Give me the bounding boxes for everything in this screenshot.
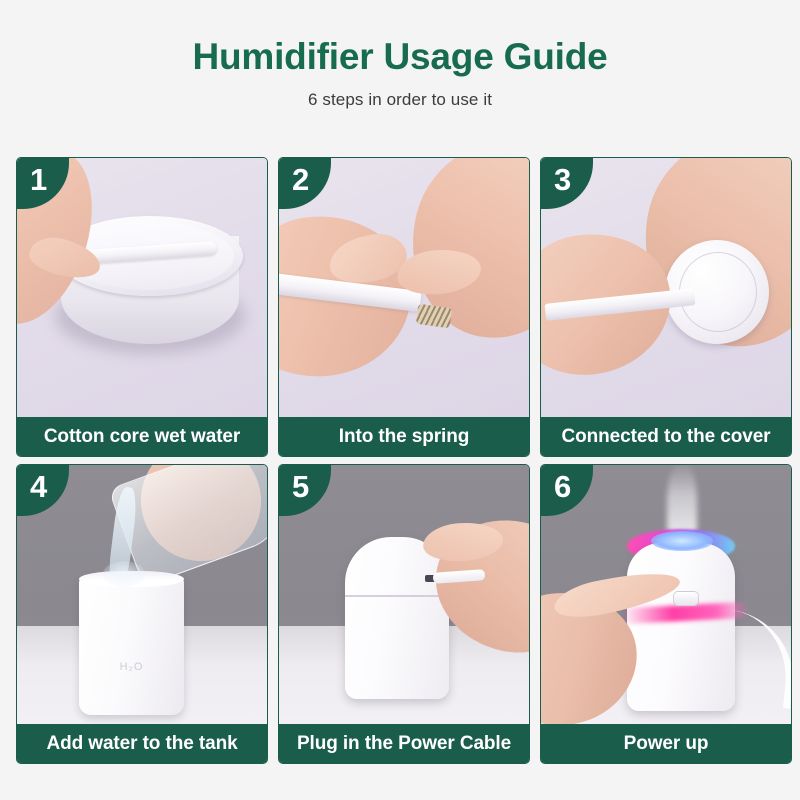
step-caption-2: Into the spring [279, 417, 529, 456]
step-caption-5: Plug in the Power Cable [279, 724, 529, 763]
step-card-2[interactable]: 2 Into the spring [278, 157, 530, 457]
step-1-scene [17, 158, 267, 417]
infographic-page: Humidifier Usage Guide 6 steps in order … [0, 0, 800, 800]
power-button[interactable] [673, 591, 699, 606]
page-title: Humidifier Usage Guide [0, 38, 800, 77]
mist-plume [667, 465, 697, 539]
water-tank [79, 575, 184, 715]
step-card-1[interactable]: 1 Cotton core wet water [16, 157, 268, 457]
unit-seam [345, 595, 449, 597]
step-4-scene: H₂O [17, 465, 267, 724]
step-5-scene [279, 465, 529, 724]
steps-grid: 1 Cotton core wet water 2 Into the sprin… [16, 157, 792, 764]
led-core [651, 531, 713, 551]
step-card-6[interactable]: 6 Power up [540, 464, 792, 764]
tank-h2o-label: H₂O [79, 661, 184, 673]
humidifier-unit [345, 537, 449, 699]
page-subtitle: 6 steps in order to use it [0, 90, 800, 110]
step-caption-1: Cotton core wet water [17, 417, 267, 456]
step-caption-6: Power up [541, 724, 791, 763]
step-2-scene [279, 158, 529, 417]
step-card-4[interactable]: H₂O 4 Add water to the tank [16, 464, 268, 764]
step-card-3[interactable]: 3 Connected to the cover [540, 157, 792, 457]
step-6-scene [541, 465, 791, 724]
step-caption-3: Connected to the cover [541, 417, 791, 456]
water-splash [103, 561, 145, 587]
header: Humidifier Usage Guide 6 steps in order … [0, 0, 800, 110]
step-3-scene [541, 158, 791, 417]
step-caption-4: Add water to the tank [17, 724, 267, 763]
step-card-5[interactable]: 5 Plug in the Power Cable [278, 464, 530, 764]
